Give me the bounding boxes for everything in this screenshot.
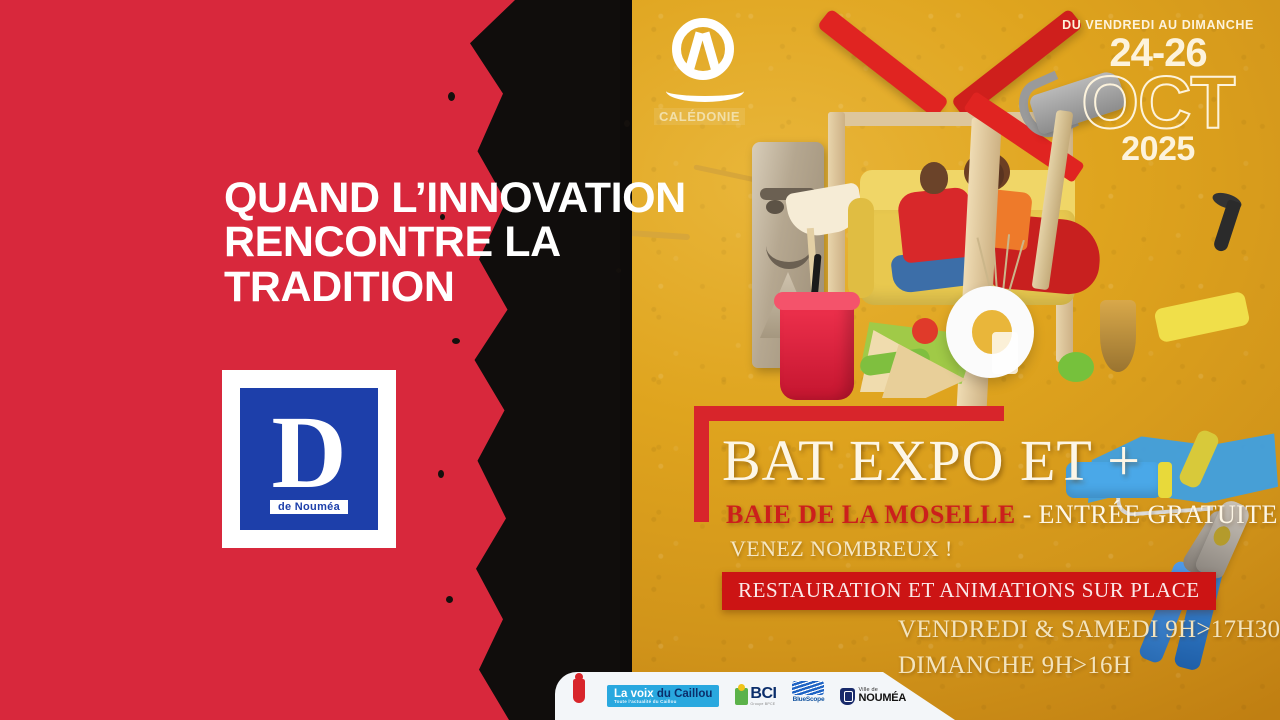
a-circle-icon	[672, 18, 734, 80]
brand-logo-inner: D de Nouméa	[240, 388, 378, 530]
brand-logo-letter: D	[271, 409, 346, 496]
opening-hours: VENDREDI & SAMEDI 9H>17H30 DIMANCHE 9H>1…	[898, 612, 1280, 683]
sponsor-la-voix-du-caillou[interactable]: La voix du Caillou Toute l’actualité du …	[607, 681, 719, 711]
caillou-tagline: Toute l’actualité du Caillou	[614, 700, 712, 705]
sponsor-ville-de-noumea[interactable]: Ville de NOUMÉA	[840, 681, 906, 711]
brush-speck	[446, 596, 453, 603]
bci-mark-icon	[735, 688, 748, 705]
sponsor-logo-partial	[567, 677, 593, 715]
bluescope-label: BlueScope	[793, 696, 825, 703]
caillou-logo: La voix du Caillou Toute l’actualité du …	[607, 685, 719, 708]
sponsor-bci[interactable]: BCI Groupe BPCE	[735, 681, 776, 711]
date-prefix: DU VENDREDI AU DIMANCHE	[1058, 18, 1258, 32]
noumea-label: Ville de NOUMÉA	[858, 688, 906, 705]
services-banner: RESTAURATION ET ANIMATIONS SUR PLACE	[722, 572, 1216, 610]
caillou-part1: La voix	[614, 688, 657, 700]
caledonie-logo-caption: CALÉDONIE	[654, 108, 745, 125]
hours-line-1: VENDREDI & SAMEDI 9H>17H30	[898, 612, 1280, 648]
headline-line-1: QUAND L’INNOVATION	[224, 176, 784, 220]
event-title: BAT EXPO ET +	[722, 432, 1141, 490]
event-call-to-action: VENEZ NOMBREUX !	[730, 536, 953, 562]
brand-logo-caption: de Nouméa	[270, 500, 348, 514]
noumea-crest-icon	[840, 688, 855, 705]
brush-speck	[448, 92, 455, 101]
sponsor-bluescope[interactable]: BlueScope	[792, 681, 824, 711]
noumea-line-2: NOUMÉA	[858, 693, 906, 704]
headline-line-3: TRADITION	[224, 265, 784, 309]
caillou-part2: du Caillou	[657, 688, 713, 700]
brush-speck	[452, 338, 460, 344]
caledonie-logo: CALÉDONIE	[660, 18, 752, 130]
hours-line-2: DIMANCHE 9H>16H	[898, 648, 1280, 684]
date-month: OCT	[1058, 73, 1258, 134]
brand-logo: D de Nouméa	[222, 370, 396, 548]
event-location: BAIE DE LA MOSELLE	[726, 500, 1016, 529]
bci-label: BCI	[750, 686, 776, 702]
services-banner-label: RESTAURATION ET ANIMATIONS SUR PLACE	[738, 578, 1200, 602]
event-date-block: DU VENDREDI AU DIMANCHE 24-26 OCT 2025	[1058, 18, 1258, 166]
brush-speck	[438, 470, 444, 478]
poster-banner: QUAND L’INNOVATION RENCONTRE LA TRADITIO…	[0, 0, 1280, 720]
event-subline: BAIE DE LA MOSELLE - ENTRÉE GRATUITE	[726, 500, 1278, 530]
partial-logo-mark	[573, 679, 585, 703]
page-title: QUAND L’INNOVATION RENCONTRE LA TRADITIO…	[224, 176, 784, 309]
event-admission: - ENTRÉE GRATUITE	[1023, 500, 1278, 529]
bluescope-wave-icon	[792, 681, 824, 695]
swoosh-icon	[666, 80, 744, 102]
headline-line-2: RENCONTRE LA	[224, 220, 784, 264]
bci-tagline: Groupe BPCE	[750, 702, 776, 706]
sponsor-list: La voix du Caillou Toute l’actualité du …	[555, 681, 906, 711]
